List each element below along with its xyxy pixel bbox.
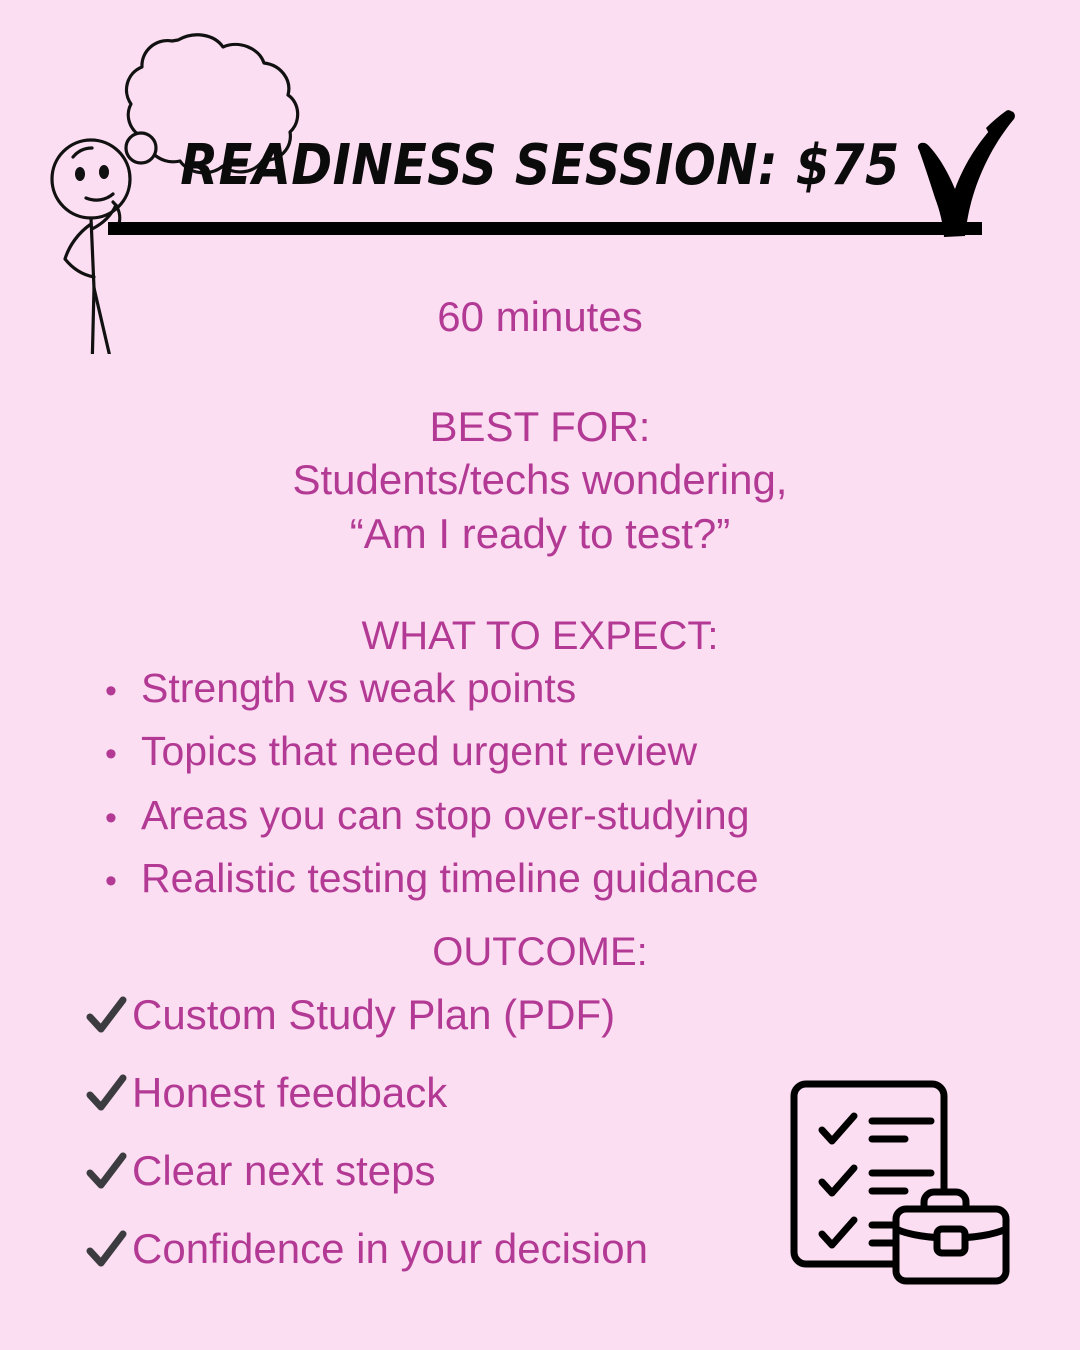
bullet-icon: •	[105, 801, 141, 835]
poster-canvas: READINESS SESSION: $75 60 minutes BEST F…	[0, 0, 1080, 1350]
list-item-label: Clear next steps	[132, 1148, 435, 1194]
session-duration: 60 minutes	[0, 293, 1080, 342]
checkmark-icon	[84, 1227, 128, 1271]
best-for-heading: BEST FOR:	[0, 400, 1080, 453]
list-item: • Strength vs weak points	[105, 662, 1005, 714]
checkmark-icon	[84, 1071, 128, 1115]
checkmark-icon	[84, 1149, 128, 1193]
checkmark-icon	[84, 993, 128, 1037]
bullet-icon: •	[105, 864, 141, 898]
list-item-label: Strength vs weak points	[141, 662, 576, 714]
brush-checkmark-icon	[888, 92, 1028, 242]
clipboard-checklist-briefcase-icon	[788, 1078, 1013, 1288]
page-title: READINESS SESSION: $75	[65, 138, 1015, 194]
bullet-icon: •	[105, 674, 141, 708]
list-item: • Areas you can stop over-studying	[105, 789, 1005, 841]
list-item-label: Honest feedback	[132, 1070, 447, 1116]
list-item-label: Realistic testing timeline guidance	[141, 852, 759, 904]
bullet-icon: •	[105, 737, 141, 771]
best-for-line-1: Students/techs wondering,	[0, 453, 1080, 506]
what-to-expect-list: • Strength vs weak points • Topics that …	[105, 662, 1005, 916]
list-item-label: Custom Study Plan (PDF)	[132, 992, 615, 1038]
list-item-label: Topics that need urgent review	[141, 725, 697, 777]
list-item: • Realistic testing timeline guidance	[105, 852, 1005, 904]
outcome-heading: OUTCOME:	[0, 928, 1080, 976]
title-underline-rule	[108, 222, 982, 235]
what-to-expect-heading: WHAT TO EXPECT:	[0, 612, 1080, 660]
list-item: Custom Study Plan (PDF)	[84, 976, 1024, 1054]
list-item-label: Areas you can stop over-studying	[141, 789, 750, 841]
best-for-block: BEST FOR: Students/techs wondering, “Am …	[0, 400, 1080, 560]
list-item: • Topics that need urgent review	[105, 725, 1005, 777]
list-item-label: Confidence in your decision	[132, 1226, 648, 1272]
best-for-line-2: “Am I ready to test?”	[0, 507, 1080, 560]
